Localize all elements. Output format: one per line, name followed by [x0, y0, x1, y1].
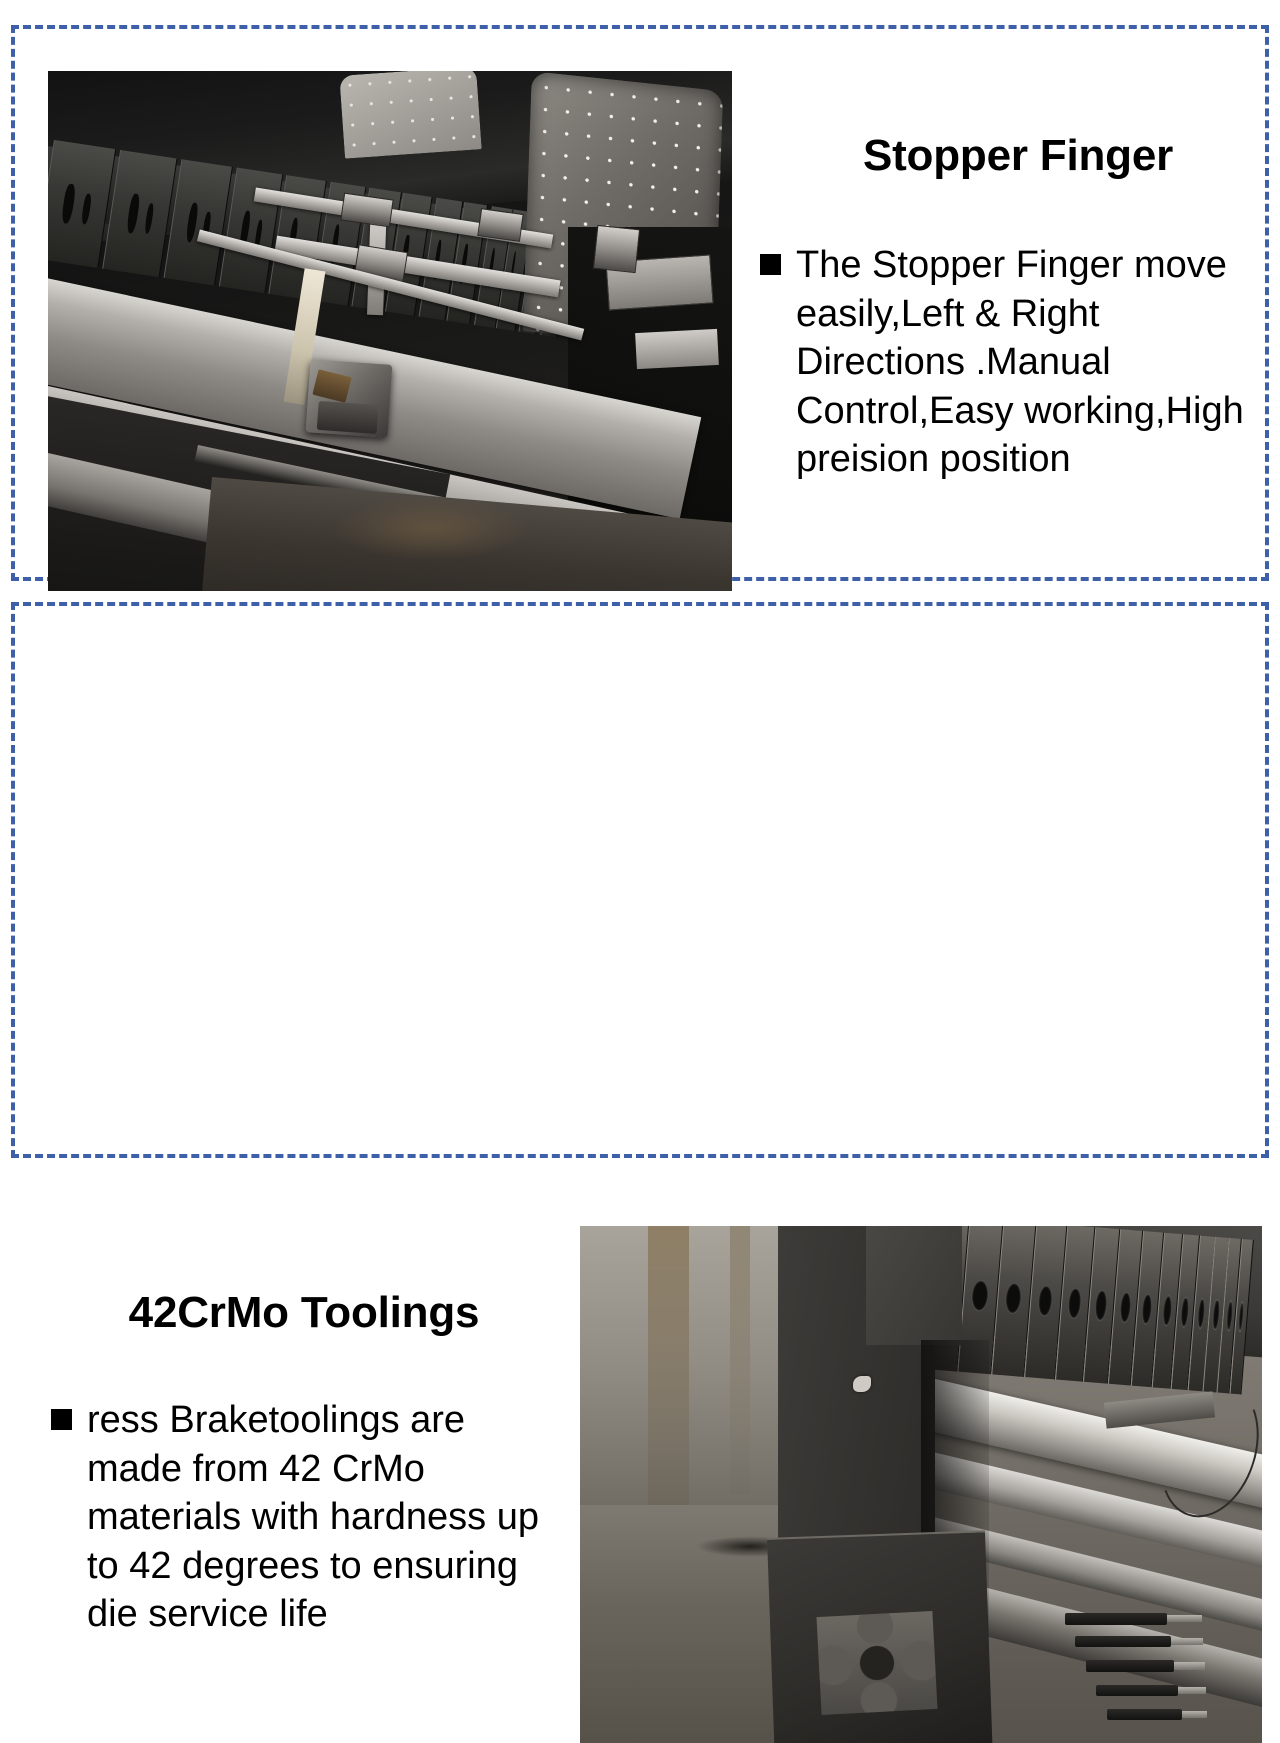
clamp-bolt — [1065, 1613, 1168, 1624]
column-bolt-hole — [853, 1376, 871, 1393]
bullet-item: The Stopper Finger move easily,Left & Ri… — [760, 241, 1276, 484]
bullet-text-stopper-finger: The Stopper Finger move easily,Left & Ri… — [796, 241, 1276, 484]
bullet-text-42crmo-toolings: ress Braketoolings are made from 42 CrMo… — [87, 1396, 557, 1639]
wall-stain — [648, 1226, 689, 1516]
stopper-finger-photo — [48, 71, 732, 591]
clamp-bolt — [1086, 1660, 1175, 1671]
square-bullet-icon — [760, 254, 781, 275]
panel-42crmo-toolings: 42CrMo Toolings ress Braketoolings are m… — [11, 602, 1269, 1158]
photo-composite — [580, 1226, 1262, 1743]
clamp-bolt — [1107, 1709, 1181, 1720]
toolings-text-column: 42CrMo Toolings ress Braketoolings are m… — [51, 1291, 557, 1639]
panel-title-stopper-finger: Stopper Finger — [760, 134, 1276, 179]
stopper-finger-block — [593, 225, 640, 273]
panel-title-42crmo-toolings: 42CrMo Toolings — [51, 1291, 557, 1336]
slide-canvas: Stopper Finger The Stopper Finger move e… — [0, 0, 1280, 1173]
clamp-bolt — [1096, 1685, 1178, 1696]
bullet-item: ress Braketoolings are made from 42 CrMo… — [51, 1396, 557, 1639]
flower-cutout-die — [816, 1611, 937, 1715]
perforated-guard-secondary — [339, 71, 481, 159]
clamp-row — [1057, 1603, 1234, 1727]
square-bullet-icon — [51, 1409, 72, 1430]
panel-stopper-finger: Stopper Finger The Stopper Finger move e… — [11, 25, 1269, 581]
photo-composite — [48, 71, 732, 591]
clamp-bolt — [1075, 1636, 1171, 1647]
machine-column-top — [866, 1226, 961, 1345]
wall-stain — [730, 1226, 750, 1495]
control-box-secondary — [635, 329, 719, 370]
42crmo-toolings-photo — [580, 1226, 1262, 1743]
stopper-finger-text-column: Stopper Finger The Stopper Finger move e… — [760, 134, 1276, 484]
floor-stain — [335, 497, 527, 559]
